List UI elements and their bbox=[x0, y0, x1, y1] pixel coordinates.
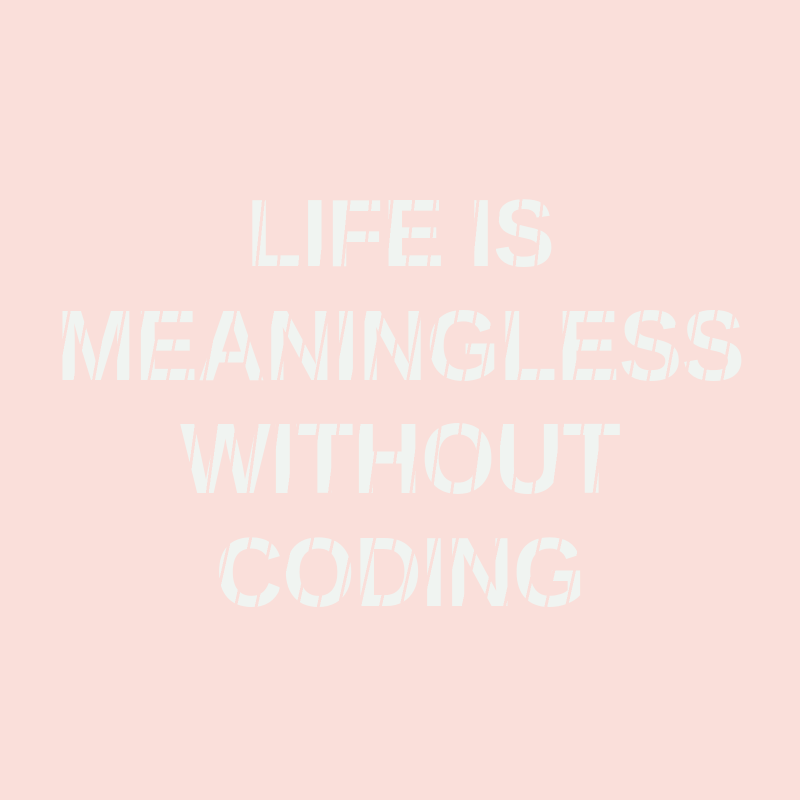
quote-block: LIFE IS MEANINGLESS WITHOUT CODING bbox=[0, 177, 800, 629]
quote-line-4: CODING bbox=[16, 516, 784, 629]
quote-line-3-text: WITHOUT bbox=[180, 403, 620, 516]
poster-canvas: LIFE IS MEANINGLESS WITHOUT CODING bbox=[0, 0, 800, 800]
quote-line-3: WITHOUT bbox=[16, 403, 784, 516]
quote-line-1-text: LIFE IS bbox=[246, 177, 554, 290]
quote-line-1: LIFE IS bbox=[12, 177, 788, 290]
quote-line-2: MEANINGLESS bbox=[18, 290, 782, 403]
quote-line-2-text: MEANINGLESS bbox=[56, 290, 744, 403]
quote-line-4-text: CODING bbox=[215, 516, 585, 629]
